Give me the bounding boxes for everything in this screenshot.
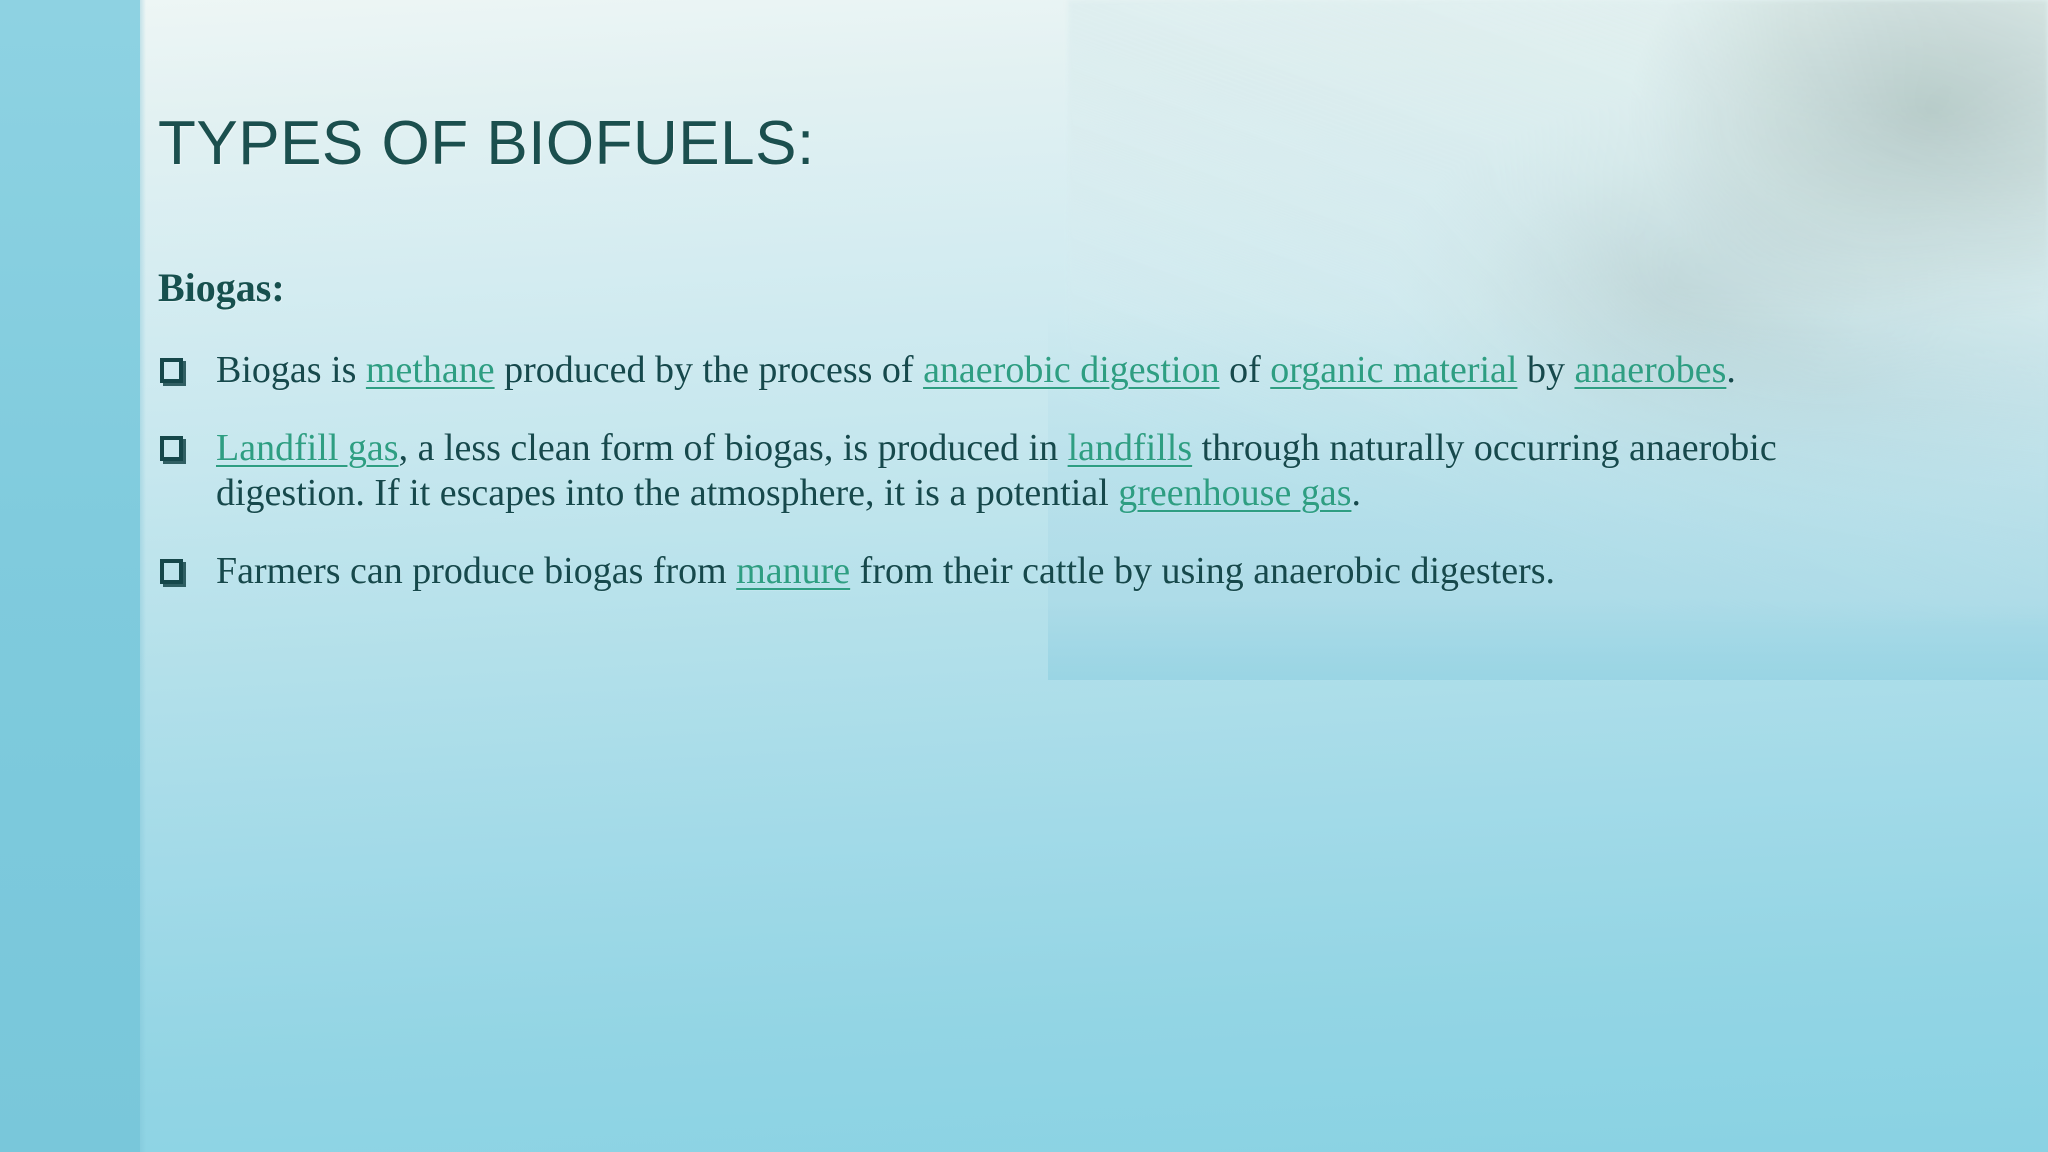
presentation-slide: TYPES OF BIOFUELS: Biogas: Biogas is met…	[0, 0, 2048, 1152]
bullet-text: .	[1351, 472, 1361, 514]
bullet-text: , a less clean form of biogas, is produc…	[399, 427, 1068, 469]
hollow-square-bullet-icon	[160, 358, 183, 383]
bullet-text: .	[1726, 349, 1736, 391]
slide-content: TYPES OF BIOFUELS: Biogas: Biogas is met…	[0, 0, 2048, 1152]
list-item: Landfill gas, a less clean form of bioga…	[158, 426, 1798, 515]
hollow-square-bullet-icon	[160, 436, 183, 461]
hyperlink[interactable]: manure	[736, 550, 850, 592]
list-item: Farmers can produce biogas from manure f…	[158, 549, 1798, 593]
hyperlink[interactable]: landfills	[1068, 427, 1193, 469]
bullet-text: of	[1220, 349, 1271, 391]
page-title: TYPES OF BIOFUELS:	[158, 108, 1658, 179]
bullet-text: Biogas is	[216, 349, 366, 391]
section-subheading: Biogas:	[158, 264, 285, 311]
list-item: Biogas is methane produced by the proces…	[158, 348, 1798, 392]
hollow-square-bullet-icon	[160, 559, 183, 584]
bullet-list: Biogas is methane produced by the proces…	[158, 348, 1798, 594]
bullet-text: Farmers can produce biogas from	[216, 550, 736, 592]
hyperlink[interactable]: methane	[366, 349, 495, 391]
bullet-text: by	[1517, 349, 1574, 391]
bullet-text: from their cattle by using anaerobic dig…	[850, 550, 1555, 592]
hyperlink[interactable]: greenhouse gas	[1118, 472, 1351, 514]
hyperlink[interactable]: Landfill gas	[216, 427, 399, 469]
bullet-text: produced by the process of	[495, 349, 923, 391]
hyperlink[interactable]: anaerobes	[1574, 349, 1726, 391]
hyperlink[interactable]: anaerobic digestion	[923, 349, 1220, 391]
hyperlink[interactable]: organic material	[1270, 349, 1517, 391]
